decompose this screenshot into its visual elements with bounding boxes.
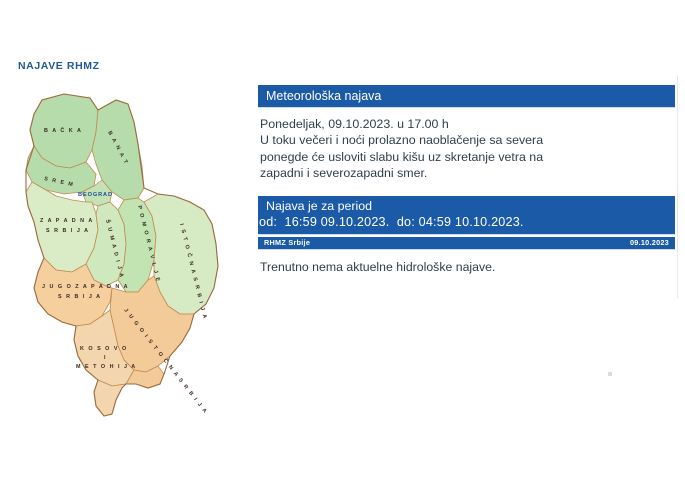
najave-panel: Meteorološka najava Ponedeljak, 09.10.20… bbox=[256, 80, 677, 290]
map-label-zapadna-srbija: Z A P A D N A bbox=[40, 218, 94, 224]
source-label: RHMZ Srbije bbox=[264, 237, 310, 249]
period-header: Najava je za period od: 16:59 09.10.2023… bbox=[258, 196, 675, 234]
region-southern-tip[interactable] bbox=[94, 380, 126, 416]
serbia-map-svg: B A Č K A B A N A T S R E M BEOGRAD Z A … bbox=[12, 88, 252, 424]
map-label-jugozapadna-srbija: J U G O Z A P A D N A bbox=[42, 284, 129, 290]
meteo-body-line-2: U toku večeri i noći prolazno naoblačenj… bbox=[260, 132, 675, 148]
source-bar: RHMZ Srbije 09.10.2023 bbox=[258, 237, 675, 249]
panel-right-divider bbox=[677, 76, 678, 298]
meteo-header: Meteorološka najava bbox=[258, 85, 675, 107]
page-title: NAJAVE RHMZ bbox=[18, 60, 100, 72]
map-label-metohija: M E T O H I J A bbox=[76, 364, 137, 370]
period-range: od: 16:59 09.10.2023. do: 04:59 10.10.20… bbox=[258, 214, 675, 231]
meteo-body-line-4: zapadni i severozapadni smer. bbox=[260, 165, 675, 181]
page-root: NAJAVE RHMZ bbox=[0, 0, 685, 480]
map-label-beograd: BEOGRAD bbox=[78, 192, 113, 198]
hydro-status-text: Trenutno nema aktuelne hidrološke najave… bbox=[260, 260, 495, 274]
image-artifact-speck bbox=[608, 372, 612, 376]
meteo-body-text: Ponedeljak, 09.10.2023. u 17.00 h U toku… bbox=[260, 116, 675, 182]
map-label-kosovo-i: I bbox=[104, 355, 107, 361]
source-date: 09.10.2023 bbox=[630, 237, 669, 249]
map-label-zapadna-srbija-line2: S R B I J A bbox=[46, 228, 90, 234]
meteo-body-line-1: Ponedeljak, 09.10.2023. u 17.00 h bbox=[260, 116, 675, 132]
period-title: Najava je za period bbox=[258, 198, 675, 214]
meteo-body-line-3: ponegde će usloviti slabu kišu uz skreta… bbox=[260, 149, 675, 165]
map-label-jugozapadna-srbija-line2: S R B I J A bbox=[58, 294, 102, 300]
map-label-kosovo: K O S O V O bbox=[80, 346, 128, 352]
serbia-map[interactable]: B A Č K A B A N A T S R E M BEOGRAD Z A … bbox=[12, 88, 252, 424]
map-label-backa: B A Č K A bbox=[44, 127, 82, 134]
